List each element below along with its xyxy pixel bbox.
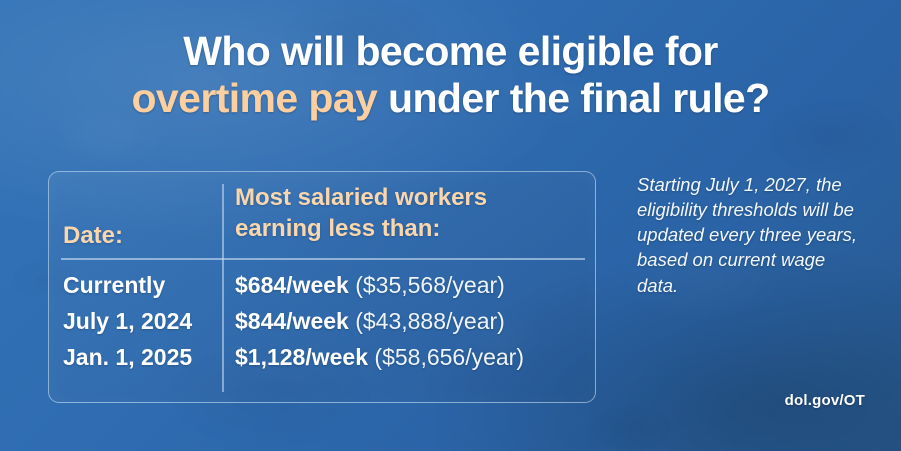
table-cell-yearly-amount: ($35,568/year) bbox=[349, 272, 505, 298]
table-header-earning-threshold: Most salaried workers earning less than: bbox=[235, 182, 487, 244]
headline-line-1: Who will become eligible for bbox=[0, 28, 901, 75]
table-cell-yearly-amount: ($43,888/year) bbox=[349, 308, 505, 334]
table-cell-threshold: $684/week ($35,568/year) bbox=[235, 267, 505, 303]
page-title: Who will become eligible for overtime pa… bbox=[0, 28, 901, 121]
table-cell-date: July 1, 2024 bbox=[63, 303, 218, 339]
headline-line-2-rest: under the final rule? bbox=[377, 75, 769, 121]
headline-line-1-text: Who will become eligible for bbox=[183, 28, 717, 74]
table-header-earning-line-2: earning less than: bbox=[235, 213, 487, 244]
table-cell-weekly-amount: $684/week bbox=[235, 272, 349, 298]
table-row: Jan. 1, 2025 $1,128/week ($58,656/year) bbox=[49, 339, 597, 375]
table-cell-yearly-amount: ($58,656/year) bbox=[368, 344, 524, 370]
table-header-earning-line-1: Most salaried workers bbox=[235, 182, 487, 213]
table-cell-date: Currently bbox=[63, 267, 218, 303]
headline-accent-overtime-pay: overtime pay bbox=[131, 75, 377, 121]
table-cell-threshold: $1,128/week ($58,656/year) bbox=[235, 339, 524, 375]
eligibility-table-panel: Date: Most salaried workers earning less… bbox=[48, 171, 596, 403]
table-header-divider bbox=[61, 258, 585, 260]
infographic-canvas: Who will become eligible for overtime pa… bbox=[0, 0, 901, 451]
footer-url: dol.gov/OT bbox=[785, 392, 865, 409]
table-row: Currently $684/week ($35,568/year) bbox=[49, 267, 597, 303]
table-cell-weekly-amount: $1,128/week bbox=[235, 344, 368, 370]
table-cell-weekly-amount: $844/week bbox=[235, 308, 349, 334]
table-cell-threshold: $844/week ($43,888/year) bbox=[235, 303, 505, 339]
side-note-text: Starting July 1, 2027, the eligibility t… bbox=[637, 172, 869, 298]
table-cell-date: Jan. 1, 2025 bbox=[63, 339, 218, 375]
table-row: July 1, 2024 $844/week ($43,888/year) bbox=[49, 303, 597, 339]
table-header-date: Date: bbox=[63, 222, 123, 250]
headline-line-2: overtime pay under the final rule? bbox=[0, 75, 901, 122]
